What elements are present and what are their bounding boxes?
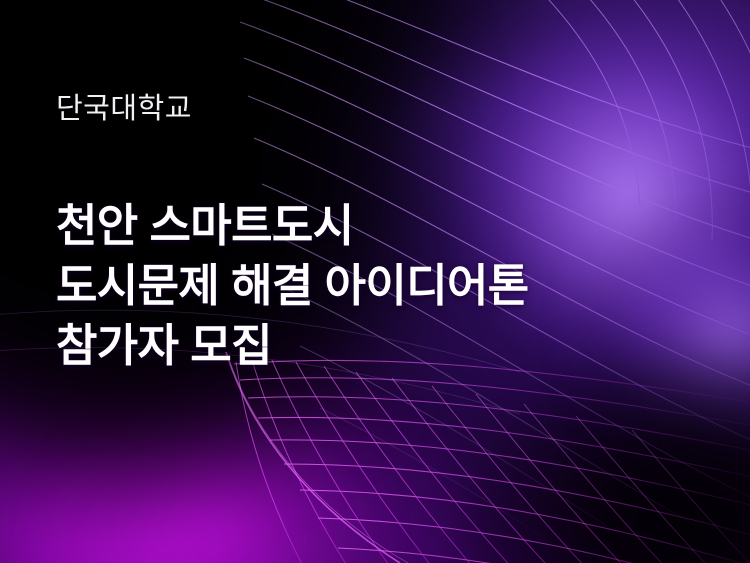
poster-canvas: 단국대학교 천안 스마트도시 도시문제 해결 아이디어톤 참가자 모집	[0, 0, 750, 563]
headline-line-3: 참가자 모집	[56, 316, 529, 376]
page-title: 천안 스마트도시 도시문제 해결 아이디어톤 참가자 모집	[56, 196, 529, 376]
poster-content: 단국대학교 천안 스마트도시 도시문제 해결 아이디어톤 참가자 모집	[56, 0, 716, 563]
organization-name: 단국대학교	[56, 92, 192, 127]
headline-line-2: 도시문제 해결 아이디어톤	[56, 256, 529, 316]
headline-line-1: 천안 스마트도시	[56, 196, 529, 256]
